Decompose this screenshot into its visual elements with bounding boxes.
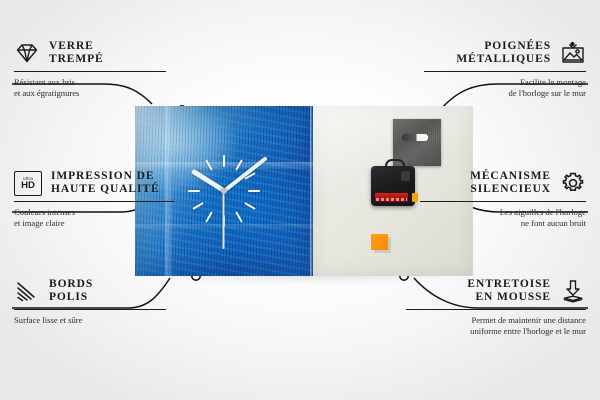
feature-divider [424, 71, 586, 72]
feature-header: BORDS POLIS [14, 278, 184, 304]
feature-divider [14, 201, 174, 202]
feature-poignees-metalliques[interactable]: POIGNÉES MÉTALLIQUES Facilite le montage… [406, 40, 586, 98]
feature-divider [14, 71, 166, 72]
feature-subtitle: Surface lisse et sûre [14, 315, 184, 326]
feature-subtitle: Les aiguilles de l'horloge ne font aucun… [402, 207, 586, 228]
polished-edges-icon [14, 278, 40, 304]
clock-center-hub [221, 188, 227, 194]
feature-bords-polis[interactable]: BORDS POLIS Surface lisse et sûre [14, 278, 184, 326]
feature-impression-hd[interactable]: ultra HD IMPRESSION DE HAUTE QUALITÉ Cou… [14, 170, 204, 228]
feature-title: IMPRESSION DE HAUTE QUALITÉ [51, 170, 160, 196]
feature-title: MÉCANISME SILENCIEUX [470, 170, 551, 196]
feature-header: POIGNÉES MÉTALLIQUES [406, 40, 586, 66]
feature-subtitle: Couleurs intenses et image claire [14, 207, 204, 228]
ultra-hd-icon: ultra HD [14, 171, 42, 196]
feature-header: ENTRETOISE EN MOUSSE [390, 278, 586, 304]
feature-entretoise-en-mousse[interactable]: ENTRETOISE EN MOUSSE Permet de maintenir… [390, 278, 586, 336]
infographic-canvas: VERRE TREMPÉ Résistant aux bris et aux é… [0, 0, 600, 400]
feature-divider [14, 309, 166, 310]
gear-icon [560, 170, 586, 196]
movement-hanging-loop [385, 159, 405, 170]
feature-subtitle: Facilite le montage de l'horloge sur le … [406, 77, 586, 98]
feature-divider [406, 309, 586, 310]
feature-header: VERRE TREMPÉ [14, 40, 184, 66]
feature-mecanisme-silencieux[interactable]: MÉCANISME SILENCIEUX Les aiguilles de l'… [402, 170, 586, 228]
foam-spacer [371, 234, 388, 250]
feature-header: MÉCANISME SILENCIEUX [402, 170, 586, 196]
hanging-frame-icon [560, 40, 586, 66]
feature-title: BORDS POLIS [49, 278, 93, 304]
feature-title: ENTRETOISE EN MOUSSE [467, 278, 551, 304]
feature-subtitle: Résistant aux bris et aux égratignures [14, 77, 184, 98]
diamond-icon [14, 40, 40, 66]
feature-title: VERRE TREMPÉ [49, 40, 104, 66]
foam-spacer-icon [560, 278, 586, 304]
feature-divider [420, 201, 586, 202]
feature-title: POIGNÉES MÉTALLIQUES [456, 40, 551, 66]
feature-subtitle: Permet de maintenir une distance uniform… [390, 315, 586, 336]
ultra-hd-icon-main-label: HD [21, 181, 35, 191]
hanger-slot [402, 134, 428, 141]
feature-header: ultra HD IMPRESSION DE HAUTE QUALITÉ [14, 170, 204, 196]
feature-verre-trempe[interactable]: VERRE TREMPÉ Résistant aux bris et aux é… [14, 40, 184, 98]
